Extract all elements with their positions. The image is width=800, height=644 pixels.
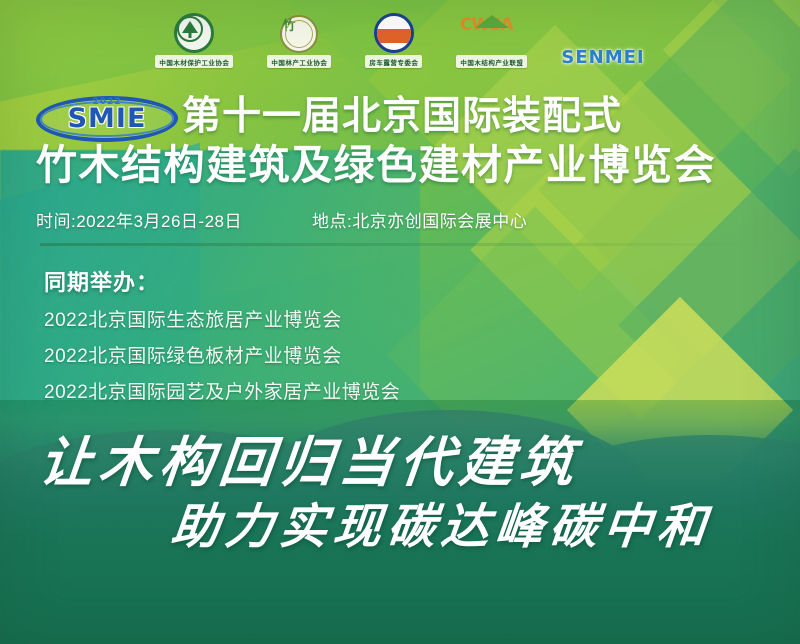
concurrent-heading: 同期举办：: [44, 265, 159, 297]
concurrent-event-item: 2022北京国际绿色板材产业博览会: [44, 341, 342, 368]
badge-text: SMIE: [36, 105, 178, 132]
concurrent-event-item: 2022北京国际生态旅居产业博览会: [44, 305, 342, 332]
meta-divider: [40, 243, 758, 246]
bamboo-seal-icon: 竹: [280, 15, 318, 53]
logo-cwsa[interactable]: CWSA 中国木结构产业联盟: [456, 10, 527, 68]
slogan-line1: 让木构回归当代建筑: [36, 418, 584, 497]
logo-bamboo-industry[interactable]: 竹 中国林产工业协会: [267, 10, 331, 68]
slogan-line2: 助力实现碳达峰碳中和: [168, 487, 715, 557]
event-venue: 地点:北京亦创国际会展中心: [312, 207, 527, 232]
logo-caption: 中国木材保护工业协会: [155, 55, 233, 68]
logo-caption: 房车露营专委会: [365, 55, 422, 68]
logo-china-wood-protection[interactable]: 中国木材保护工业协会: [155, 10, 233, 68]
event-meta: 时间:2022年3月26日-28日 地点:北京亦创国际会展中心: [36, 207, 766, 232]
page-title-line1: 第十一届北京国际装配式: [182, 97, 622, 136]
cadcc-seal-icon: CADCC: [374, 13, 414, 53]
logo-caption: 中国木结构产业联盟: [456, 55, 527, 68]
senmei-wordmark: SENMEI: [561, 47, 644, 68]
house-icon: CWSA: [460, 17, 524, 53]
tree-seal-icon: [174, 13, 214, 53]
page-title-line2: 竹木结构建筑及绿色建材产业博览会: [36, 145, 716, 186]
event-date: 时间:2022年3月26日-28日: [36, 207, 242, 232]
logo-cadcc-rv-camping[interactable]: CADCC 房车露营专委会: [365, 10, 422, 68]
exhibition-poster: 中国木材保护工业协会 竹 中国林产工业协会 CADCC 房车露营专委会 CWSA…: [0, 0, 800, 644]
smie-badge: 2022 SMIE: [36, 96, 178, 142]
concurrent-event-item: 2022北京国际园艺及户外家居产业博览会: [44, 377, 400, 404]
logo-caption: 中国林产工业协会: [267, 55, 331, 68]
logo-senmei[interactable]: SENMEI: [561, 10, 644, 68]
senmei-text: SENMEI: [561, 47, 644, 68]
organizer-logo-strip: 中国木材保护工业协会 竹 中国林产工业协会 CADCC 房车露营专委会 CWSA…: [0, 8, 800, 70]
cadcc-abbr: CADCC: [377, 22, 407, 31]
